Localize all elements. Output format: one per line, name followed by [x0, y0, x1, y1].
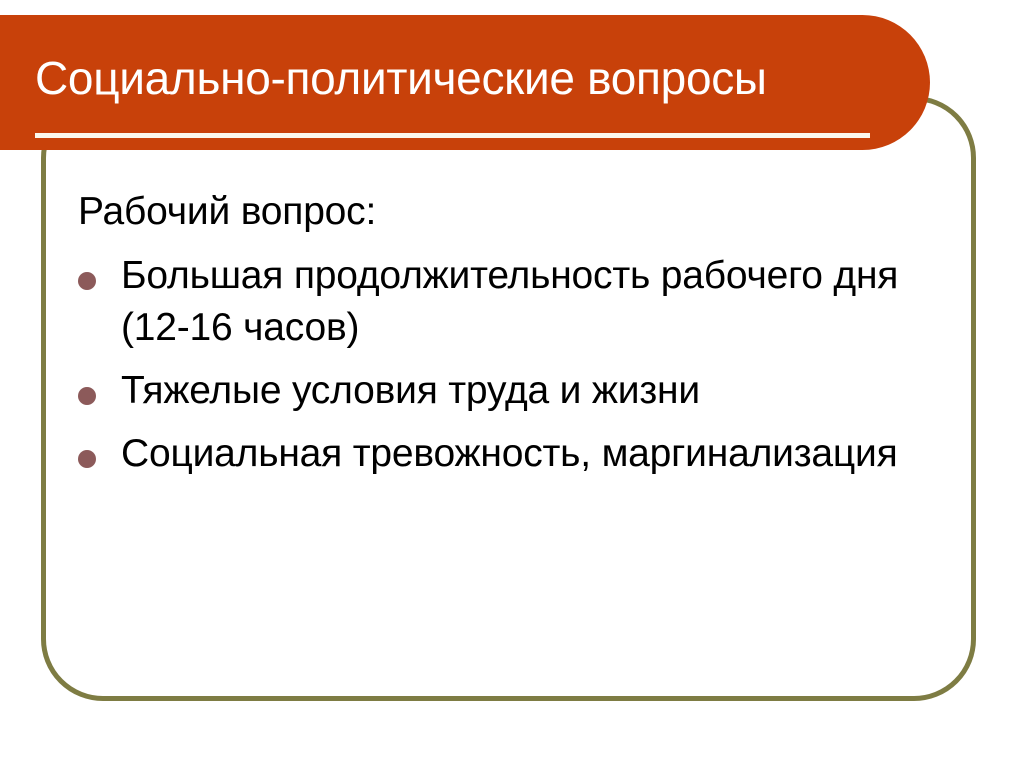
title-banner: Социально-политические вопросы	[0, 15, 930, 150]
list-item: Социальная тревожность, маргинализация	[74, 428, 964, 480]
bullet-dot-icon	[78, 272, 96, 290]
list-item: Большая продолжительность рабочего дня (…	[74, 250, 964, 354]
bullet-text: Большая продолжительность рабочего дня (…	[121, 254, 898, 349]
list-item: Тяжелые условия труда и жизни	[74, 365, 964, 417]
bullet-text: Социальная тревожность, маргинализация	[121, 432, 898, 475]
title-underline-rule	[35, 133, 870, 138]
bullet-list: Большая продолжительность рабочего дня (…	[74, 250, 964, 480]
body-lead-text: Рабочий вопрос:	[78, 186, 964, 238]
presentation-slide: Социально-политические вопросы Рабочий в…	[0, 0, 1024, 767]
slide-title: Социально-политические вопросы	[35, 49, 895, 107]
slide-body: Рабочий вопрос: Большая продолжительност…	[74, 186, 964, 491]
bullet-text: Тяжелые условия труда и жизни	[121, 369, 700, 412]
bullet-dot-icon	[78, 387, 96, 405]
bullet-dot-icon	[78, 450, 96, 468]
